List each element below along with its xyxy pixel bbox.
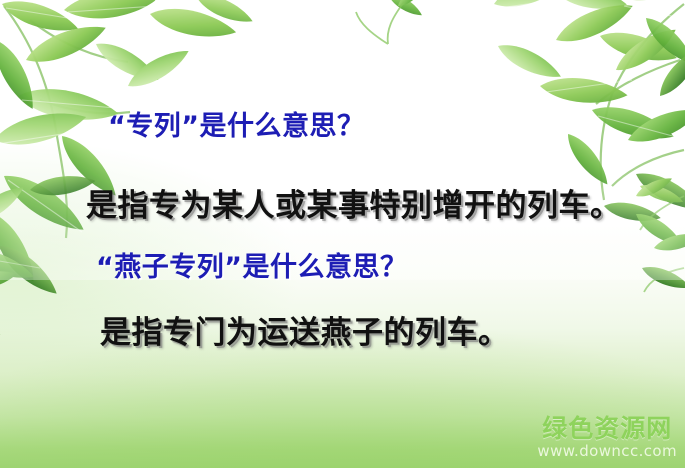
watermark-site-name: 绿色资源网 [537, 416, 677, 442]
answer-line-2: 是指专门为运送燕子的列车。 [100, 307, 510, 352]
watermark: 绿色资源网 www.downcc.com [537, 416, 677, 460]
question-line-2: “燕子专列”是什么意思？ [96, 245, 408, 284]
question-line-1: “专列”是什么意思？ [108, 104, 365, 143]
slide-canvas: “专列”是什么意思？ 是指专为某人或某事特别增开的列车。 “燕子专列”是什么意思… [0, 0, 685, 468]
watermark-url: www.downcc.com [537, 444, 677, 460]
answer-line-1: 是指专为某人或某事特别增开的列车。 [86, 180, 622, 225]
slide-text-block: “专列”是什么意思？ 是指专为某人或某事特别增开的列车。 “燕子专列”是什么意思… [0, 0, 685, 468]
